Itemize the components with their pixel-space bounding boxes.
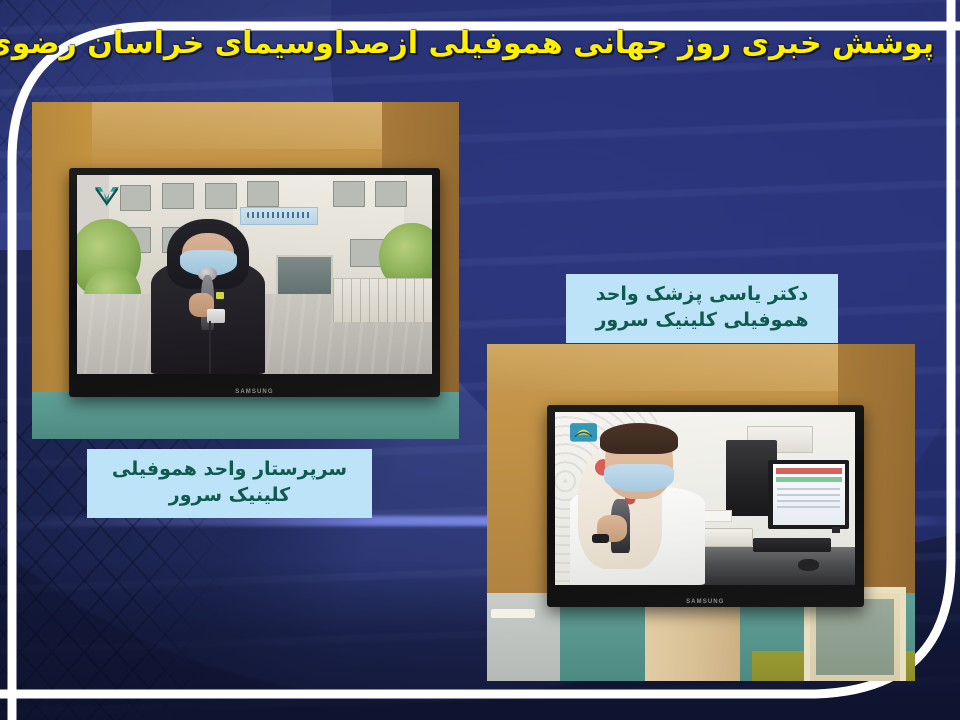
photo1-tv-screen [77,175,432,374]
photo-indoor-interview[interactable]: SAMSUNG [487,344,915,681]
photo1-teal-band [32,392,459,439]
channel-logo-icon [567,421,600,445]
monitor-display [773,464,844,525]
window [375,181,407,207]
computer-monitor [768,460,849,529]
monitor-ui-line [777,506,840,508]
photo1-television: SAMSUNG [69,168,440,397]
window [205,183,237,209]
photo-outdoor-report[interactable]: SAMSUNG [32,102,459,439]
microphone-cable [209,321,211,374]
caption-nurse-line2: کلینیک سرور [97,483,362,509]
window [247,181,279,207]
slide-title: پوشش خبری روز جهانی هموفیلی ازصداوسیمای … [58,24,934,64]
tv-brand-label: SAMSUNG [235,389,273,395]
caption-nurse: سرپرستار واحد هموفیلی کلینیک سرور [87,449,372,518]
monitor-stand [832,527,839,533]
monitor-ui-line [777,500,840,502]
monitor-ui-line [777,494,840,496]
photo2-tv-screen [555,412,855,585]
reporter-badge [216,292,224,300]
keyboard [753,538,831,552]
window [162,183,194,209]
photo2-broadcast-scene [555,412,855,585]
monitor-ui-bar-red [776,468,842,474]
courtyard-railing [333,278,432,322]
doctor-figure [570,426,705,585]
presentation-slide: پوشش خبری روز جهانی هموفیلی ازصداوسیمای … [0,0,960,720]
caption-nurse-line1: سرپرستار واحد هموفیلی [97,457,362,483]
photo1-broadcast-scene [77,175,432,374]
photo2-television: SAMSUNG [547,405,864,607]
tv-brand-label: SAMSUNG [686,599,724,605]
computer-mouse [798,559,819,571]
caption-doctor-line1: دکتر یاسی پزشک واحد [576,282,828,308]
monitor-ui-line [777,488,840,490]
caption-doctor: دکتر یاسی پزشک واحد هموفیلی کلینیک سرور [566,274,838,343]
wrist-watch [592,534,610,544]
channel-logo-icon [89,184,125,210]
monitor-ui-bar-green [776,477,842,482]
reporter-figure [151,219,265,374]
doctor-hair [600,423,678,455]
window [333,181,365,207]
caption-doctor-line2: هموفیلی کلینیک سرور [576,308,828,334]
